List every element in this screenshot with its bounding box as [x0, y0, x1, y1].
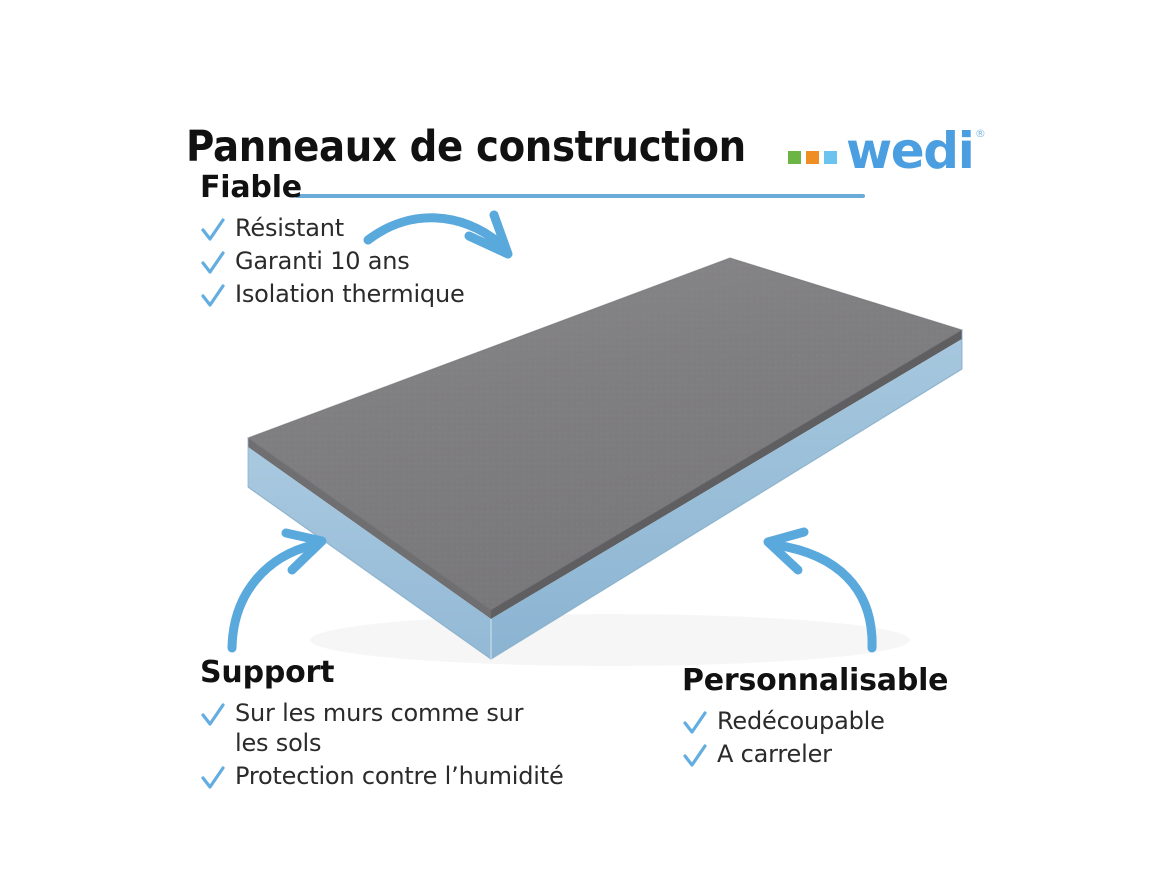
list-item: Isolation thermique [200, 279, 465, 309]
list-item-label: Garanti 10 ans [235, 246, 410, 276]
header: Panneaux de construction wedi ® [0, 60, 1162, 140]
logo-wordmark: wedi ® [846, 126, 973, 176]
logo-dot-green [788, 151, 801, 164]
check-icon [200, 700, 226, 730]
check-icon [682, 708, 708, 738]
logo-dot-orange [806, 151, 819, 164]
list-item-label: Résistant [235, 213, 344, 243]
check-icon [200, 248, 226, 278]
page-title: Panneaux de construction [186, 122, 746, 172]
section-title-fiable: Fiable [200, 170, 465, 205]
logo-dots [788, 151, 837, 164]
infographic-canvas: Panneaux de construction wedi ® Fiable R… [0, 0, 1162, 871]
check-icon [682, 741, 708, 771]
arrow-support [232, 533, 322, 648]
list-item: Résistant [200, 213, 465, 243]
list-item: Garanti 10 ans [200, 246, 465, 276]
registered-trademark-icon: ® [975, 128, 985, 139]
list-item: Redécoupable [682, 706, 948, 736]
logo-wordmark-text: wedi [846, 122, 973, 180]
section-title-personnalisable: Personnalisable [682, 663, 948, 698]
list-item-label: A carreler [717, 739, 832, 769]
section-support: Support Sur les murs comme sur les sols … [200, 655, 564, 794]
section-personnalisable: Personnalisable Redécoupable A carreler [682, 663, 948, 772]
list-item: A carreler [682, 739, 948, 769]
section-fiable: Fiable Résistant Garanti 10 ans Isolatio… [200, 170, 465, 312]
list-item-label: Sur les murs comme sur les sols [235, 698, 535, 758]
wedi-logo: wedi ® [788, 120, 973, 176]
arrow-personnalisable [768, 532, 872, 648]
check-icon [200, 763, 226, 793]
list-item: Protection contre l’humidité [200, 761, 564, 791]
list-item: Sur les murs comme sur les sols [200, 698, 564, 758]
list-item-label: Redécoupable [717, 706, 885, 736]
list-item-label: Protection contre l’humidité [235, 761, 564, 791]
list-item-label: Isolation thermique [235, 279, 465, 309]
check-icon [200, 215, 226, 245]
section-title-support: Support [200, 655, 564, 690]
check-icon [200, 281, 226, 311]
logo-dot-blue [824, 151, 837, 164]
